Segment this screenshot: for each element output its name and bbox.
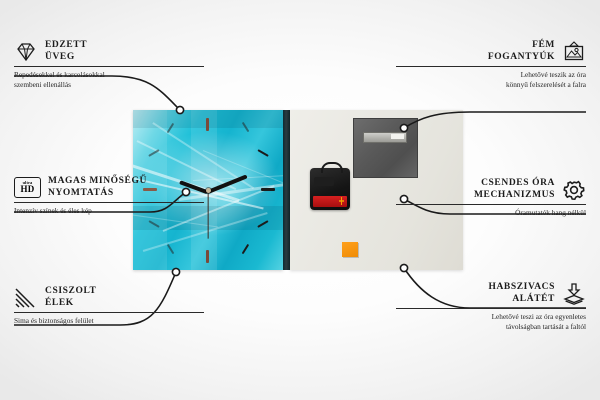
feature-title-line2: ÉLEK [45, 298, 74, 308]
divider [396, 66, 586, 67]
feature-desc-line1: Óramutatók hang nélkül [515, 208, 586, 217]
feature-silent-mechanism[interactable]: CSENDES ÓRAMECHANIZMUS Óramutatók hang n… [396, 178, 586, 218]
feature-desc-line1: Lehetővé teszi az óra egyenletes [492, 312, 586, 321]
feature-title-line2: NYOMTATÁS [48, 188, 114, 198]
feature-title-line1: EDZETT [45, 40, 87, 50]
divider [396, 308, 586, 309]
feature-title-line1: HABSZIVACS [488, 282, 555, 292]
feature-title-line2: ÜVEG [45, 52, 75, 62]
feature-title-line1: MAGAS MINŐSÉGŰ [48, 176, 147, 186]
feature-desc-line1: Intenzív színek és éles kép [14, 206, 92, 215]
divider [14, 202, 204, 203]
feature-desc-line1: Repedésekkel és karcolásokkal [14, 70, 105, 79]
clock-mechanism [310, 168, 350, 210]
feature-polished-edges[interactable]: CSISZOLTÉLEK Sima és biztonságos felület [14, 286, 204, 326]
feature-title-line2: ALÁTÉT [512, 294, 555, 304]
divider [14, 312, 204, 313]
feature-foam-pad[interactable]: HABSZIVACSALÁTÉT Lehetővé teszi az óra e… [396, 282, 586, 331]
feature-desc-line1: Lehetővé teszik az óra [521, 70, 586, 79]
second-hand [207, 191, 208, 239]
feature-title-line1: CSENDES ÓRA [481, 178, 555, 188]
glass-edge [283, 110, 290, 270]
battery [313, 196, 347, 207]
divider [14, 66, 204, 67]
feature-title-line1: FÉM [532, 40, 555, 50]
gear-icon [562, 179, 586, 201]
ultra-hd-icon: ultraHD [14, 177, 41, 198]
feature-title-line2: MECHANIZMUS [474, 190, 555, 200]
feature-desc-line2: távolságban tartását a faltól [506, 322, 586, 331]
metal-hanger-plate [353, 118, 418, 178]
minute-hand [207, 174, 248, 194]
picture-hanger-icon [562, 41, 586, 63]
divider [396, 204, 586, 205]
foam-spacer-pad [342, 242, 358, 257]
feature-high-quality-print[interactable]: ultraHD MAGAS MINŐSÉGŰNYOMTATÁS Intenzív… [14, 176, 204, 216]
feature-desc-line1: Sima és biztonságos felület [14, 316, 94, 325]
hand-cap [206, 188, 211, 193]
feature-title-line1: CSISZOLT [45, 286, 96, 296]
diamond-icon [14, 41, 38, 63]
feature-desc-line2: könnyű felszerelését a falra [506, 80, 586, 89]
arrow-onto-layers-icon [562, 283, 586, 305]
feature-title-line2: FOGANTYÚK [488, 52, 555, 62]
feature-tempered-glass[interactable]: EDZETTÜVEG Repedésekkel és karcolásokkal… [14, 40, 204, 89]
bevelled-edges-icon [14, 287, 38, 309]
product-infographic: EDZETTÜVEG Repedésekkel és karcolásokkal… [0, 0, 600, 400]
feature-desc-line2: szembeni ellenállás [14, 80, 71, 89]
feature-metal-handles[interactable]: FÉMFOGANTYÚK Lehetővé teszik az órakönny… [396, 40, 586, 89]
